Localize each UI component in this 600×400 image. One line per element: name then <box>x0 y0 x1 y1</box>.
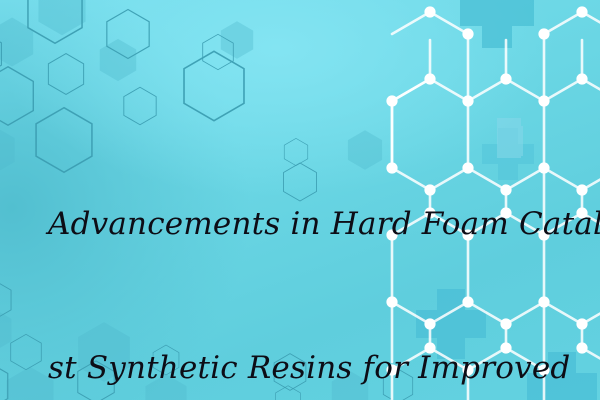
headline-title: Advancements in Hard Foam Cataly st Synt… <box>44 104 600 400</box>
headline-line-1: Advancements in Hard Foam Cataly <box>48 200 600 248</box>
title-banner: Advancements in Hard Foam Cataly st Synt… <box>0 0 600 400</box>
headline-line-2: st Synthetic Resins for Improved <box>48 344 600 392</box>
